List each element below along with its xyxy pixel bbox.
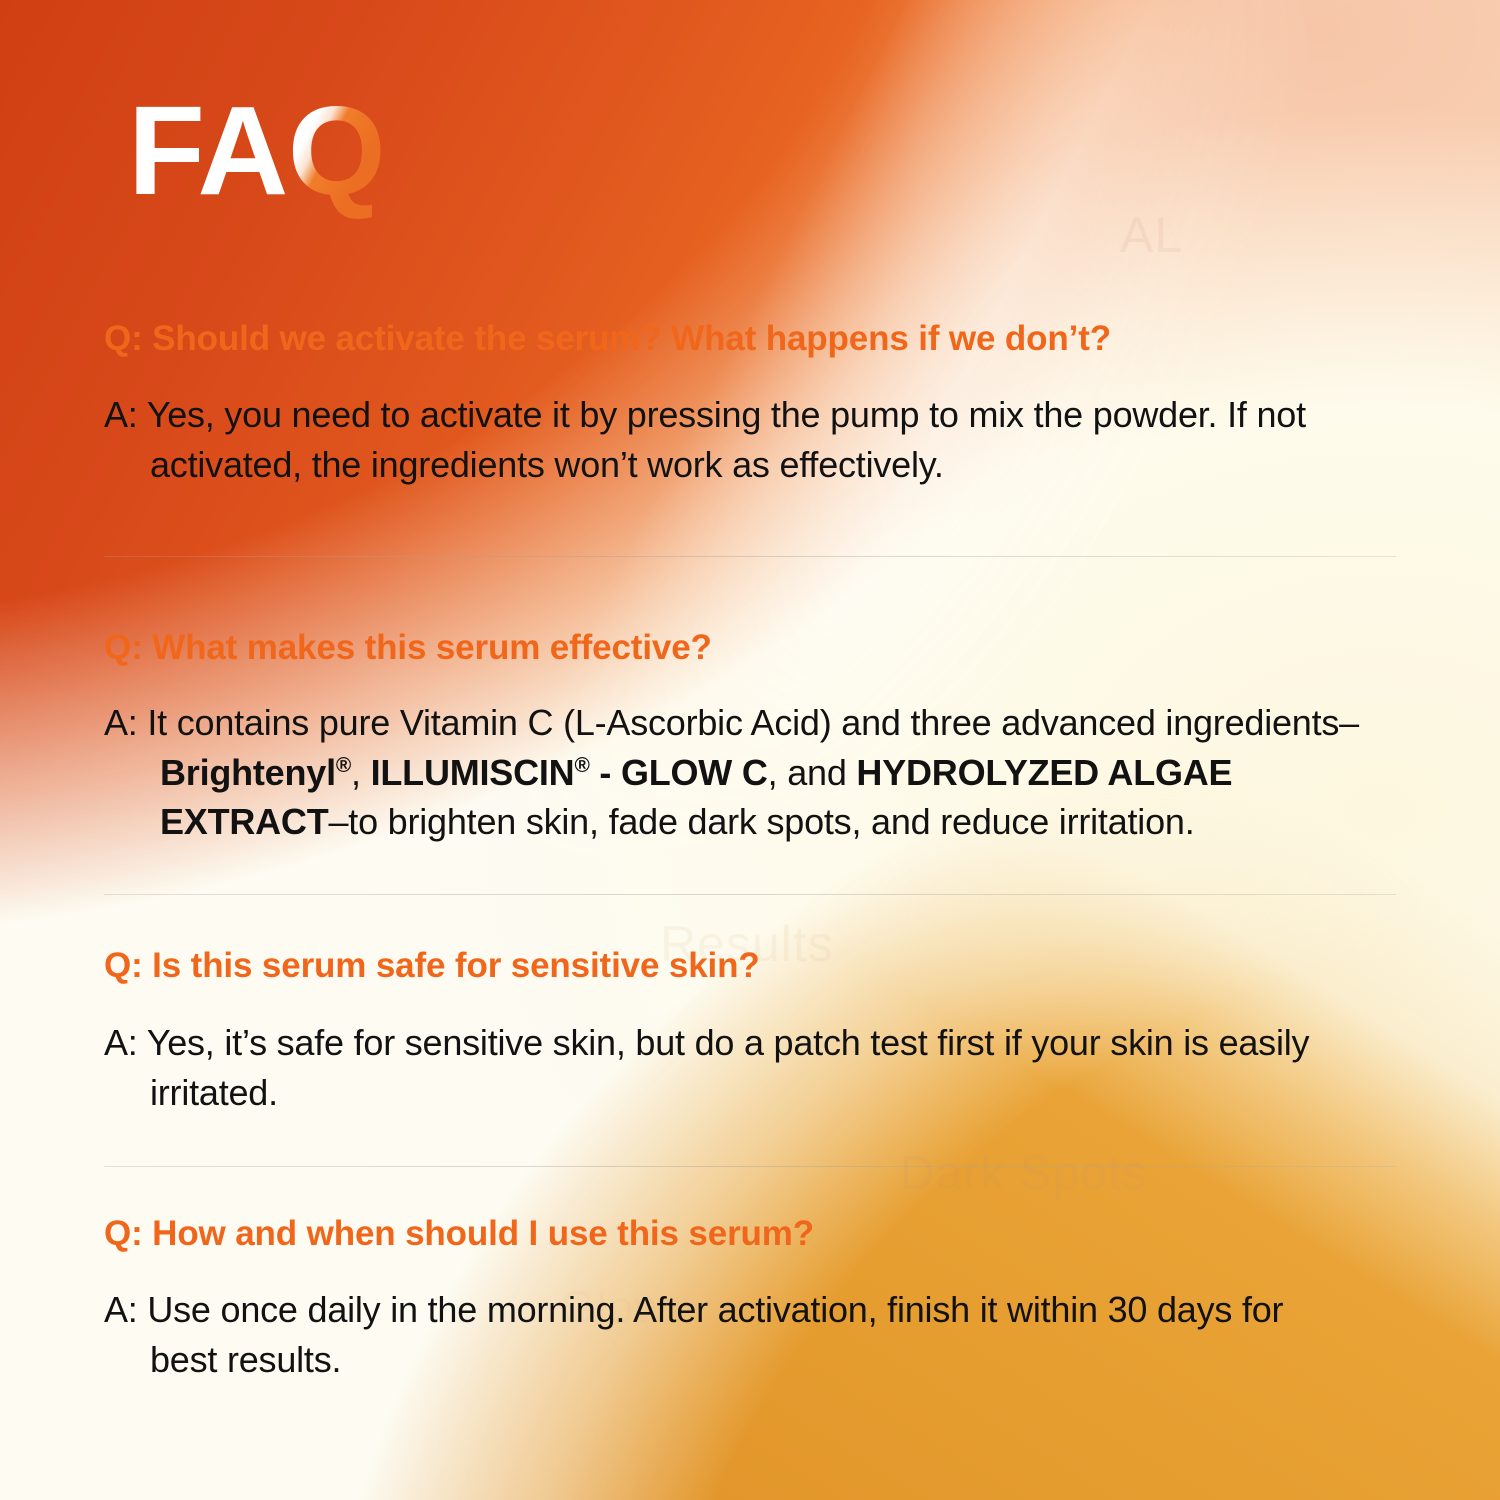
- faq-list: Q: Should we activate the serum? What ha…: [0, 318, 1500, 1384]
- faq-answer: A: Yes, you need to activate it by press…: [104, 390, 1350, 489]
- spacer: [0, 1118, 1500, 1166]
- faq-question: Q: How and when should I use this serum?: [104, 1213, 1396, 1254]
- title-letter-q: Q: [288, 80, 385, 221]
- spacer: [0, 847, 1500, 894]
- faq-item: Q: What makes this serum effective? A: I…: [0, 627, 1500, 847]
- page-title: FAQ: [128, 88, 385, 216]
- spacer: [0, 557, 1500, 627]
- spacer: [0, 1167, 1500, 1213]
- faq-question: Q: Should we activate the serum? What ha…: [104, 318, 1396, 359]
- faq-answer: A: It contains pure Vitamin C (L-Ascorbi…: [104, 698, 1360, 847]
- faq-item: Q: Is this serum safe for sensitive skin…: [0, 945, 1500, 1118]
- watermark-top-right: AL: [1120, 206, 1183, 264]
- title-letters-fa: FA: [128, 80, 288, 221]
- spacer: [0, 895, 1500, 945]
- faq-question: Q: Is this serum safe for sensitive skin…: [104, 945, 1396, 986]
- faq-answer: A: Yes, it’s safe for sensitive skin, bu…: [104, 1018, 1350, 1117]
- faq-item: Q: How and when should I use this serum?…: [0, 1213, 1500, 1385]
- faq-item: Q: Should we activate the serum? What ha…: [0, 318, 1500, 490]
- faq-answer: A: Use once daily in the morning. After …: [104, 1285, 1350, 1384]
- faq-poster: AL Results Dark Spots Glow FAQ Q: Should…: [0, 0, 1500, 1500]
- spacer: [0, 490, 1500, 556]
- faq-question: Q: What makes this serum effective?: [104, 627, 1396, 668]
- faq-heading: FAQ: [128, 88, 385, 214]
